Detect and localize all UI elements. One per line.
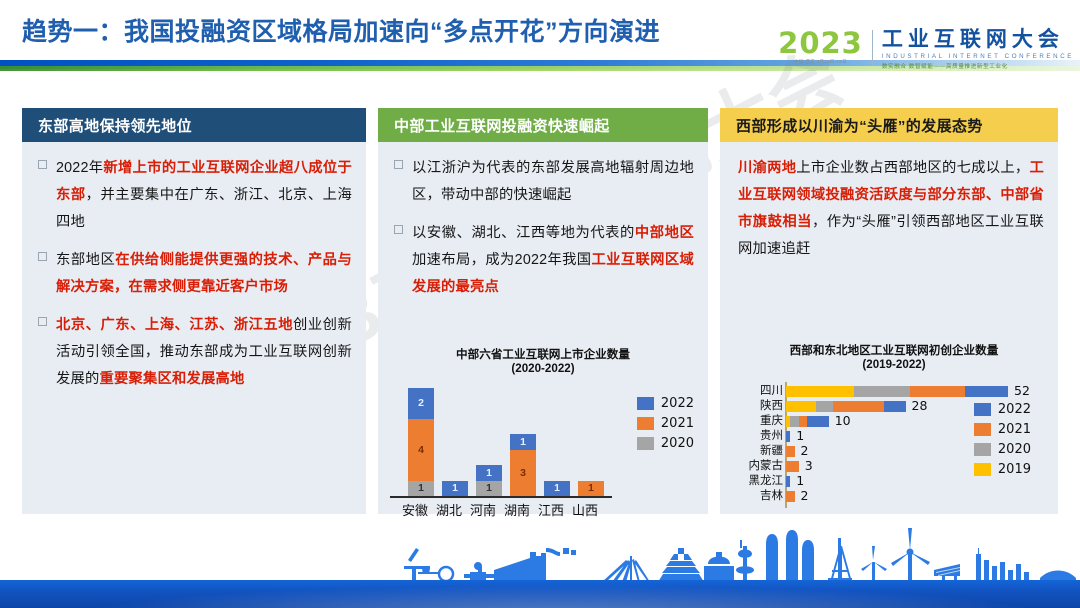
square-bullet-icon [38, 317, 47, 326]
legend-swatch [974, 443, 991, 456]
highlighted-text-run: 重要聚集区和发展高地 [100, 371, 245, 387]
chart-bar-row [786, 461, 799, 472]
legend-item: 2022 [974, 402, 1031, 417]
chart-y-tick-label: 内蒙古 [735, 461, 783, 472]
chart-bar-segment [790, 416, 799, 427]
chart-bar-segment [786, 431, 790, 442]
legend-swatch [637, 397, 654, 410]
legend-swatch [974, 423, 991, 436]
panel-west-body: 川渝两地上市企业数占西部地区的七成以上，工业互联网领域投融资活跃度与部分东部、中… [720, 142, 1058, 282]
chart-west-startup-companies: 西部和东北地区工业互联网初创企业数量 (2019-2022) 四川52陕西28重… [735, 344, 1053, 520]
chart-bar-segment [799, 416, 808, 427]
chart-bar-segment [786, 476, 790, 487]
chart-value-label: 1 [796, 475, 804, 486]
chart-bar-row [786, 476, 790, 487]
chart-bar-segment: 1 [544, 481, 570, 496]
chart-bar-segment: 1 [408, 481, 434, 496]
legend-item: 2021 [974, 422, 1031, 437]
logo-name-en: INDUSTRIAL INTERNET CONFERENCE [882, 53, 1074, 60]
logo-tagline: 数实融合 数智赋能——高质量推进新型工业化 [882, 62, 1074, 70]
chart-bar-segment [884, 401, 905, 412]
chart-bar-segment: 1 [510, 434, 536, 449]
chart-value-label: 10 [835, 415, 851, 426]
legend-label: 2020 [998, 442, 1031, 457]
square-bullet-icon [394, 160, 403, 169]
legend-label: 2020 [661, 436, 694, 451]
chart-value-label: 28 [912, 400, 928, 411]
legend-label: 2022 [998, 402, 1031, 417]
legend-label: 2021 [661, 416, 694, 431]
legend-item: 2020 [637, 436, 694, 451]
list-item: 以江浙沪为代表的东部发展高地辐射周边地区，带动中部的快速崛起 [392, 155, 694, 209]
chart-title-main: 中部六省工业互联网上市企业数量 [456, 348, 630, 361]
chart-y-tick-label: 新疆 [735, 446, 783, 457]
chart-y-tick-label: 吉林 [735, 491, 783, 502]
text-run: 以安徽、湖北、江西等地为代表的 [412, 225, 635, 241]
text-run: 加速布局，成为2022年我国 [412, 252, 591, 268]
chart-bar-row [786, 386, 1008, 397]
chart-bar-segment [786, 446, 795, 457]
legend-swatch [974, 463, 991, 476]
conference-logo: 2023 中国·西安 8月14日-18日 工业互联网大会 INDUSTRIAL … [778, 28, 1074, 74]
text-run: 2022年 [56, 160, 103, 176]
chart-bar-row [786, 401, 906, 412]
chart-bar-segment [786, 386, 854, 397]
chart-value-label: 2 [801, 490, 809, 501]
chart-bar-segment [965, 386, 1008, 397]
panel-west-heading: 西部形成以川渝为“头雁”的发展态势 [720, 108, 1058, 142]
chart-bar-row [786, 491, 795, 502]
city-skyline-icon [0, 526, 1080, 582]
chart-value-label: 1 [796, 430, 804, 441]
chart-bar-column: 31 [510, 434, 536, 496]
chart-bar-segment [807, 416, 828, 427]
chart-title-main: 西部和东北地区工业互联网初创企业数量 [790, 344, 999, 357]
chart-y-tick-label: 陕西 [735, 401, 783, 412]
chart-bar-segment [816, 401, 833, 412]
chart-bar-row [786, 431, 790, 442]
bullet-text: 2022年新增上市的工业互联网企业超八成位于东部，并主要集中在广东、浙江、北京、… [56, 155, 352, 236]
bullet-text: 东部地区在供给侧能提供更强的技术、产品与解决方案，在需求侧更靠近客户市场 [56, 247, 352, 301]
legend-label: 2021 [998, 422, 1031, 437]
chart-bar-segment: 2 [408, 388, 434, 419]
bullet-text: 以安徽、湖北、江西等地为代表的中部地区加速布局，成为2022年我国工业互联网区域… [412, 220, 694, 301]
chart-bar-segment: 3 [510, 450, 536, 496]
chart-y-tick-label: 黑龙江 [735, 476, 783, 487]
chart-title: 中部六省工业互联网上市企业数量 (2020-2022) [390, 348, 696, 376]
chart-bar-segment [833, 401, 884, 412]
chart-bar-row [786, 446, 795, 457]
chart-x-tick-labels: 安徽湖北河南湖南江西山西 [390, 500, 616, 522]
page-title: 趋势一：我国投融资区域格局加速向“多点开花”方向演进 [22, 12, 660, 48]
logo-name-block: 工业互联网大会 INDUSTRIAL INTERNET CONFERENCE 数… [882, 28, 1074, 70]
legend-item: 2019 [974, 462, 1031, 477]
chart-bar-column: 1 [442, 481, 468, 496]
chart-bar-segment: 1 [578, 481, 604, 496]
legend-label: 2019 [998, 462, 1031, 477]
text-run: ，并主要集中在广东、浙江、北京、上海四地 [56, 187, 352, 230]
legend-item: 2022 [637, 396, 694, 411]
chart-bar-column: 1 [544, 481, 570, 496]
chart-bar-segment: 1 [476, 481, 502, 496]
panel-east-heading: 东部高地保持领先地位 [22, 108, 366, 142]
chart-y-tick-label: 四川 [735, 386, 783, 397]
chart-plot-area: 1421113111 [396, 388, 610, 496]
chart-bar-row [786, 416, 829, 427]
chart-bar-segment [786, 461, 799, 472]
sea-glow [0, 580, 1080, 608]
legend-label: 2022 [661, 396, 694, 411]
highlighted-text-run: 川渝两地 [738, 160, 796, 176]
panel-central-body: 以江浙沪为代表的东部发展高地辐射周边地区，带动中部的快速崛起 以安徽、湖北、江西… [378, 142, 708, 320]
chart-y-tick-label: 重庆 [735, 416, 783, 427]
chart-bar-segment [786, 401, 816, 412]
chart-bar-segment: 1 [476, 465, 502, 480]
panel-central-heading: 中部工业互联网投融资快速崛起 [378, 108, 708, 142]
text-run: 上市企业数占西部地区的七成以上， [796, 160, 1029, 176]
chart-title: 西部和东北地区工业互联网初创企业数量 (2019-2022) [735, 344, 1053, 372]
logo-year: 2023 [778, 28, 863, 58]
legend-swatch [974, 403, 991, 416]
chart-bar-segment [910, 386, 966, 397]
list-item: 川渝两地上市企业数占西部地区的七成以上，工业互联网领域投融资活跃度与部分东部、中… [734, 155, 1044, 263]
chart-bar-segment [854, 386, 910, 397]
highlighted-text-run: 中部地区 [635, 225, 694, 241]
list-item: 以安徽、湖北、江西等地为代表的中部地区加速布局，成为2022年我国工业互联网区域… [392, 220, 694, 301]
text-run: 东部地区 [56, 252, 115, 268]
chart-title-sub: (2020-2022) [511, 362, 574, 375]
chart-legend: 2022202120202019 [974, 402, 1031, 482]
text-run: 以江浙沪为代表的东部发展高地辐射周边地区，带动中部的快速崛起 [412, 160, 694, 203]
square-bullet-icon [38, 160, 47, 169]
bullet-text: 北京、广东、上海、江苏、浙江五地创业创新活动引领全国，推动东部成为工业互联网创新… [56, 312, 352, 393]
panel-east-region: 东部高地保持领先地位 2022年新增上市的工业互联网企业超八成位于东部，并主要集… [22, 108, 366, 514]
legend-item: 2020 [974, 442, 1031, 457]
chart-value-label: 3 [805, 460, 813, 471]
list-item: 北京、广东、上海、江苏、浙江五地创业创新活动引领全国，推动东部成为工业互联网创新… [36, 312, 352, 393]
chart-legend: 202220212020 [637, 396, 694, 456]
square-bullet-icon [394, 225, 403, 234]
chart-central-listed-companies: 中部六省工业互联网上市企业数量 (2020-2022) 1421113111 安… [390, 348, 696, 520]
logo-name-cn: 工业互联网大会 [882, 28, 1074, 51]
square-bullet-icon [38, 252, 47, 261]
panel-east-body: 2022年新增上市的工业互联网企业超八成位于东部，并主要集中在广东、浙江、北京、… [22, 142, 366, 412]
legend-item: 2021 [637, 416, 694, 431]
bullet-text: 以江浙沪为代表的东部发展高地辐射周边地区，带动中部的快速崛起 [412, 155, 694, 209]
chart-x-axis [390, 496, 612, 498]
list-item: 东部地区在供给侧能提供更强的技术、产品与解决方案，在需求侧更靠近客户市场 [36, 247, 352, 301]
slide-header: 趋势一：我国投融资区域格局加速向“多点开花”方向演进 2023 中国·西安 8月… [0, 0, 1080, 78]
highlighted-text-run: 北京、广东、上海、江苏、浙江五地 [56, 317, 293, 333]
bullet-text: 川渝两地上市企业数占西部地区的七成以上，工业互联网领域投融资活跃度与部分东部、中… [738, 155, 1044, 263]
chart-y-tick-label: 贵州 [735, 431, 783, 442]
list-item: 2022年新增上市的工业互联网企业超八成位于东部，并主要集中在广东、浙江、北京、… [36, 155, 352, 236]
logo-divider [872, 30, 873, 66]
chart-bar-column: 142 [408, 388, 434, 496]
chart-bar-column: 1 [578, 481, 604, 496]
chart-bar-segment: 1 [442, 481, 468, 496]
chart-bar-segment: 4 [408, 419, 434, 481]
chart-bar-segment [786, 491, 795, 502]
chart-title-sub: (2019-2022) [862, 358, 925, 371]
chart-value-label: 2 [801, 445, 809, 456]
legend-swatch [637, 417, 654, 430]
chart-value-label: 52 [1014, 385, 1030, 396]
legend-swatch [637, 437, 654, 450]
chart-x-tick-label: 山西 [565, 500, 605, 519]
chart-bar-column: 11 [476, 465, 502, 496]
footer-decoration [0, 526, 1080, 608]
logo-year-block: 2023 中国·西安 8月14日-18日 [778, 28, 872, 65]
